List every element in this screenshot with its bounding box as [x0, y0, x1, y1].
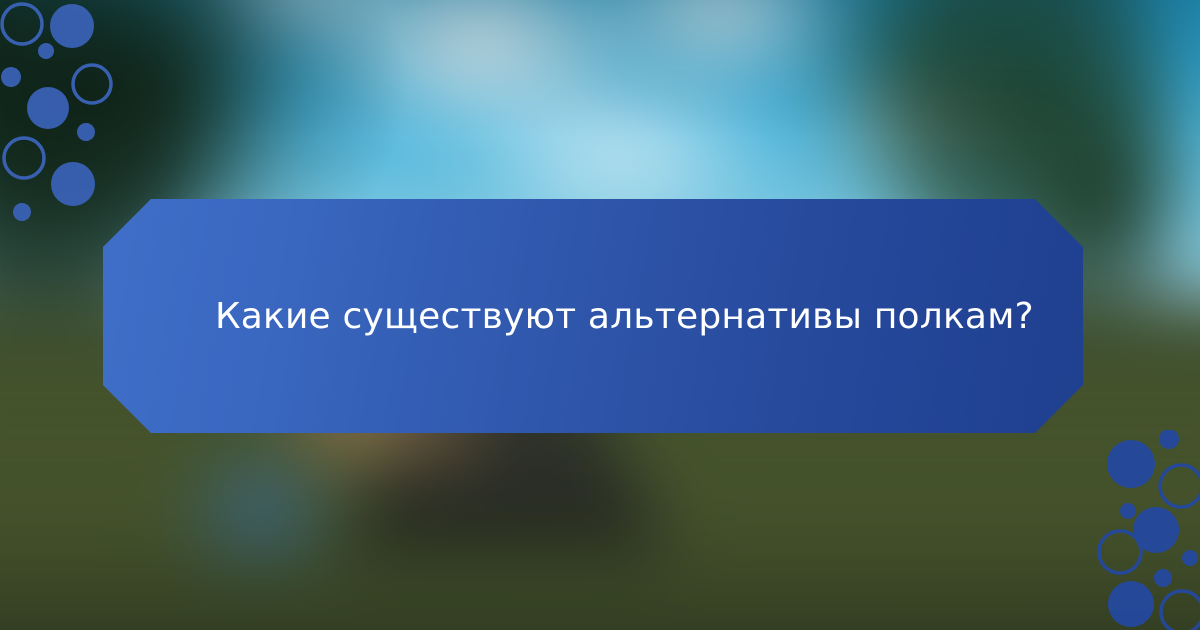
dot-filled — [51, 162, 95, 206]
dot-filled — [77, 123, 95, 141]
dot-outline — [4, 138, 44, 178]
dot-filled — [1154, 569, 1172, 587]
dot-filled — [1120, 503, 1136, 519]
dot-filled — [1107, 440, 1155, 488]
dot-filled — [1182, 550, 1198, 566]
dot-filled — [50, 4, 94, 48]
page-title: Какие существуют альтернативы полкам? — [103, 294, 1074, 339]
dot-outline — [2, 4, 42, 44]
dot-filled — [1108, 581, 1154, 627]
dot-filled — [1159, 430, 1179, 449]
dot-outline — [73, 65, 111, 103]
dot-filled — [13, 203, 31, 221]
decorative-circles-bottom-right — [1090, 430, 1200, 630]
headline-banner: Какие существуют альтернативы полкам? — [103, 199, 1083, 433]
decorative-circles-top-left — [0, 0, 200, 230]
dot-filled — [1, 67, 21, 87]
dot-filled — [38, 43, 54, 59]
dot-outline — [1099, 531, 1141, 573]
dot-filled — [27, 87, 69, 129]
social-card: Какие существуют альтернативы полкам? — [0, 0, 1200, 630]
dot-outline — [1161, 591, 1200, 630]
dot-outline — [1160, 465, 1200, 507]
